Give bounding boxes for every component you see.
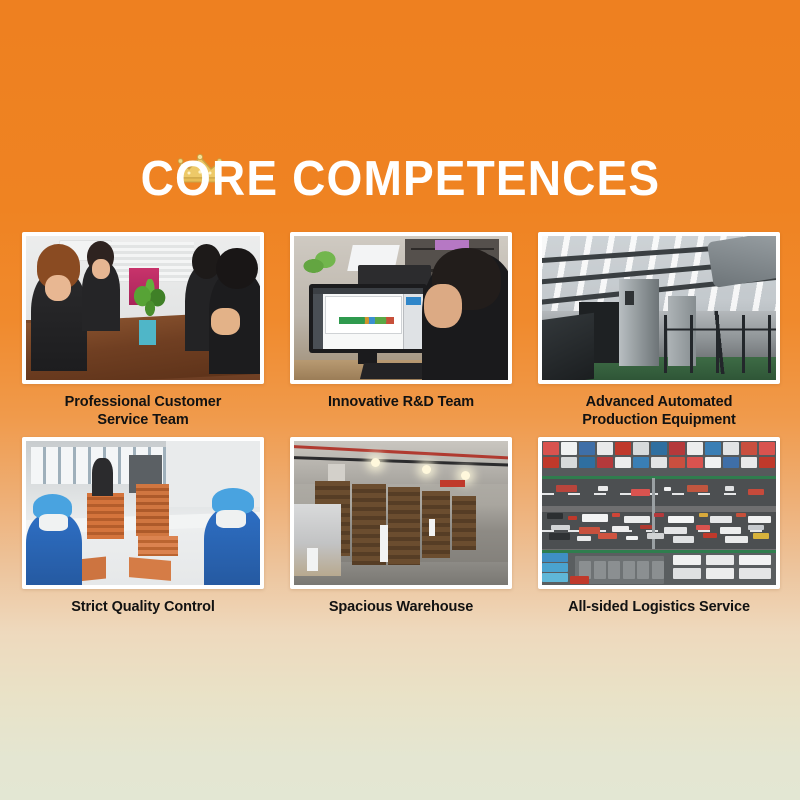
card-caption: Advanced Automated Production Equipment	[538, 393, 780, 429]
core-competences-poster: CORE COMPETENCES Professional Customer S…	[0, 0, 800, 800]
competence-row-2: Strict Quality Control	[22, 437, 780, 616]
card-caption: Strict Quality Control	[22, 598, 264, 616]
photo-frame	[290, 232, 512, 384]
caption-line-1: Advanced Automated	[586, 394, 733, 410]
caption-line-2: Service Team	[22, 411, 264, 429]
card-caption: Spacious Warehouse	[290, 598, 512, 616]
page-title-block: CORE COMPETENCES	[0, 150, 800, 208]
warehouse-pallets-photo	[294, 441, 508, 585]
photo-frame	[538, 232, 780, 384]
card-advanced-automated-production-equipment[interactable]: Advanced Automated Production Equipment	[538, 232, 780, 429]
card-all-sided-logistics-service[interactable]: All-sided Logistics Service	[538, 437, 780, 616]
competence-row-1: Professional Customer Service Team	[22, 232, 780, 429]
meeting-room-photo	[26, 236, 260, 380]
card-innovative-rd-team[interactable]: Innovative R&D Team	[290, 232, 512, 429]
card-caption: Professional Customer Service Team	[22, 393, 264, 429]
photo-frame	[290, 437, 512, 589]
caption-line-1: Strict Quality Control	[71, 599, 215, 615]
logistics-yard-aerial-photo	[542, 441, 776, 585]
caption-line-1: All-sided Logistics Service	[568, 599, 750, 615]
card-professional-customer-service-team[interactable]: Professional Customer Service Team	[22, 232, 264, 429]
photo-frame	[22, 232, 264, 384]
card-caption: All-sided Logistics Service	[538, 598, 780, 616]
caption-line-1: Professional Customer	[65, 394, 222, 410]
photo-frame	[22, 437, 264, 589]
page-title: CORE COMPETENCES	[140, 150, 660, 208]
caption-line-1: Innovative R&D Team	[328, 394, 474, 410]
card-strict-quality-control[interactable]: Strict Quality Control	[22, 437, 264, 616]
printing-press-photo	[542, 236, 776, 380]
quality-inspection-photo	[26, 441, 260, 585]
caption-line-2: Production Equipment	[538, 411, 780, 429]
card-caption: Innovative R&D Team	[290, 393, 512, 411]
card-spacious-warehouse[interactable]: Spacious Warehouse	[290, 437, 512, 616]
caption-line-1: Spacious Warehouse	[329, 599, 473, 615]
competence-grid: Professional Customer Service Team	[22, 232, 780, 616]
designer-at-computer-photo	[294, 236, 508, 380]
photo-frame	[538, 437, 780, 589]
